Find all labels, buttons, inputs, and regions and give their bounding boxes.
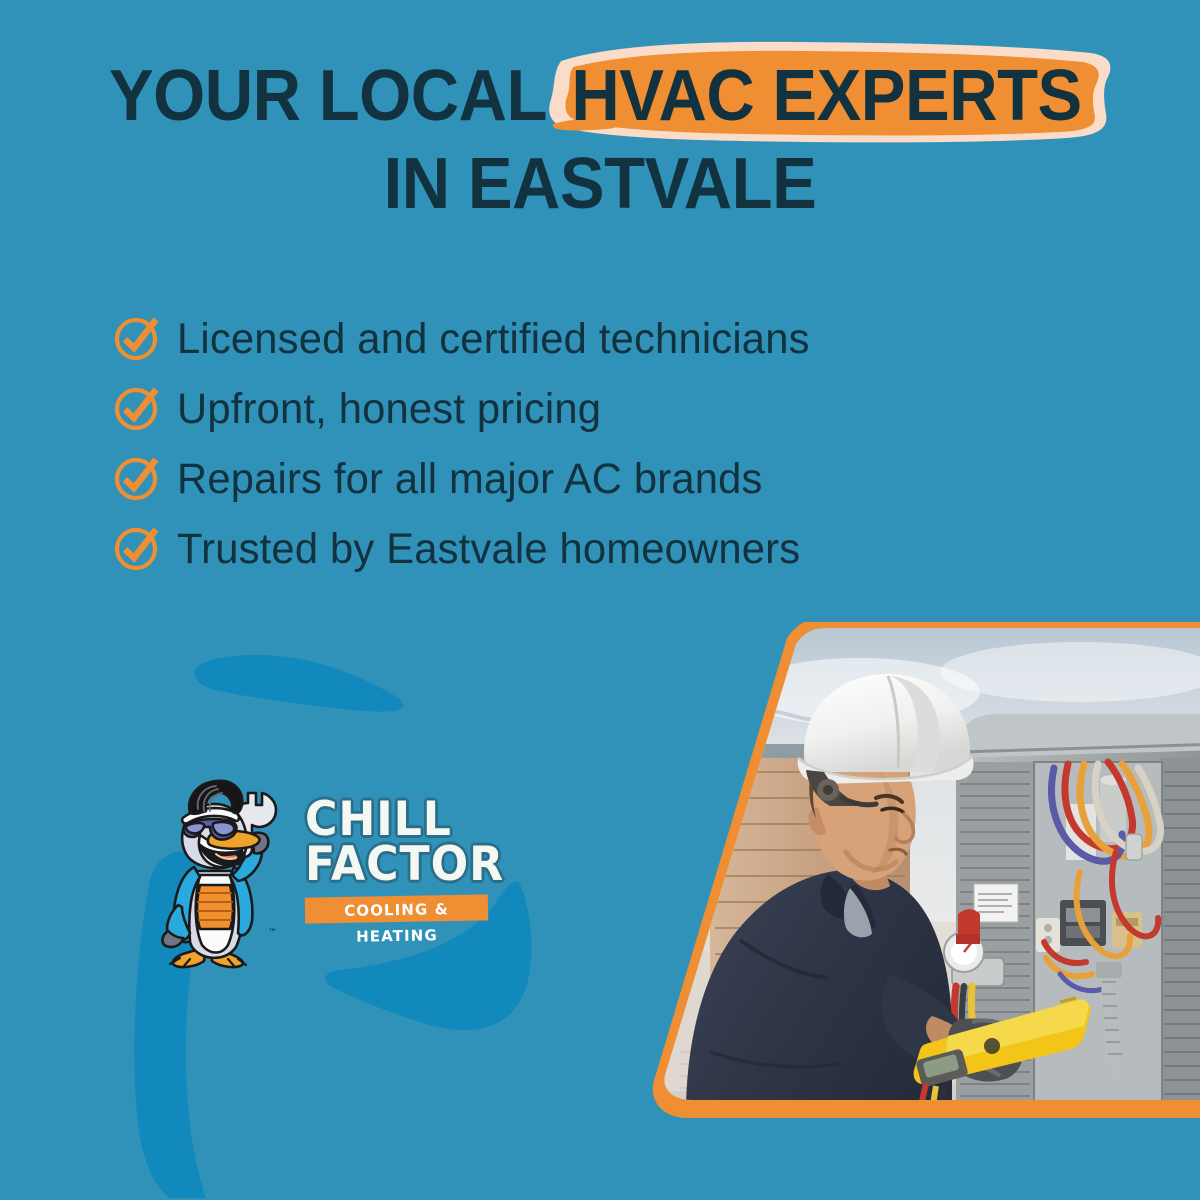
benefits-list: Licensed and certified technicians Upfro… (113, 306, 1013, 586)
list-item: Repairs for all major AC brands (113, 446, 1013, 512)
list-item-label: Repairs for all major AC brands (177, 455, 763, 503)
headline-line-2: IN EASTVALE (42, 140, 1158, 228)
logo-wordmark: CHILL FACTOR COOLING & HEATING (305, 797, 505, 922)
headline: YOUR LOCAL HVAC EXPERTS (0, 52, 1200, 228)
list-item: Licensed and certified technicians (113, 306, 1013, 372)
technician-photo-card (560, 622, 1200, 1130)
list-item-label: Licensed and certified technicians (177, 315, 810, 363)
logo-name-line-1: CHILL (305, 797, 493, 842)
logo-tagline: COOLING & HEATING (305, 894, 488, 923)
photo-content (660, 622, 1200, 1130)
brand-logo: ™ CHILL FACTOR COOLING & HEATING (150, 775, 500, 975)
list-item-label: Trusted by Eastvale homeowners (177, 525, 800, 573)
check-circle-icon (113, 524, 161, 572)
trademark-symbol: ™ (268, 928, 277, 938)
headline-plain-text: YOUR LOCAL (109, 56, 546, 136)
penguin-mascot-icon: ™ (150, 775, 300, 975)
check-circle-icon (113, 314, 161, 362)
ad-canvas: YOUR LOCAL HVAC EXPERTS (0, 0, 1200, 1200)
headline-highlighted-text: HVAC EXPERTS (564, 56, 1091, 136)
check-circle-icon (113, 384, 161, 432)
list-item: Upfront, honest pricing (113, 376, 1013, 442)
list-item-label: Upfront, honest pricing (177, 385, 601, 433)
logo-name-line-2: FACTOR (305, 842, 493, 887)
list-item: Trusted by Eastvale homeowners (113, 516, 1013, 582)
headline-line-1: YOUR LOCAL HVAC EXPERTS (42, 52, 1158, 140)
check-circle-icon (113, 454, 161, 502)
